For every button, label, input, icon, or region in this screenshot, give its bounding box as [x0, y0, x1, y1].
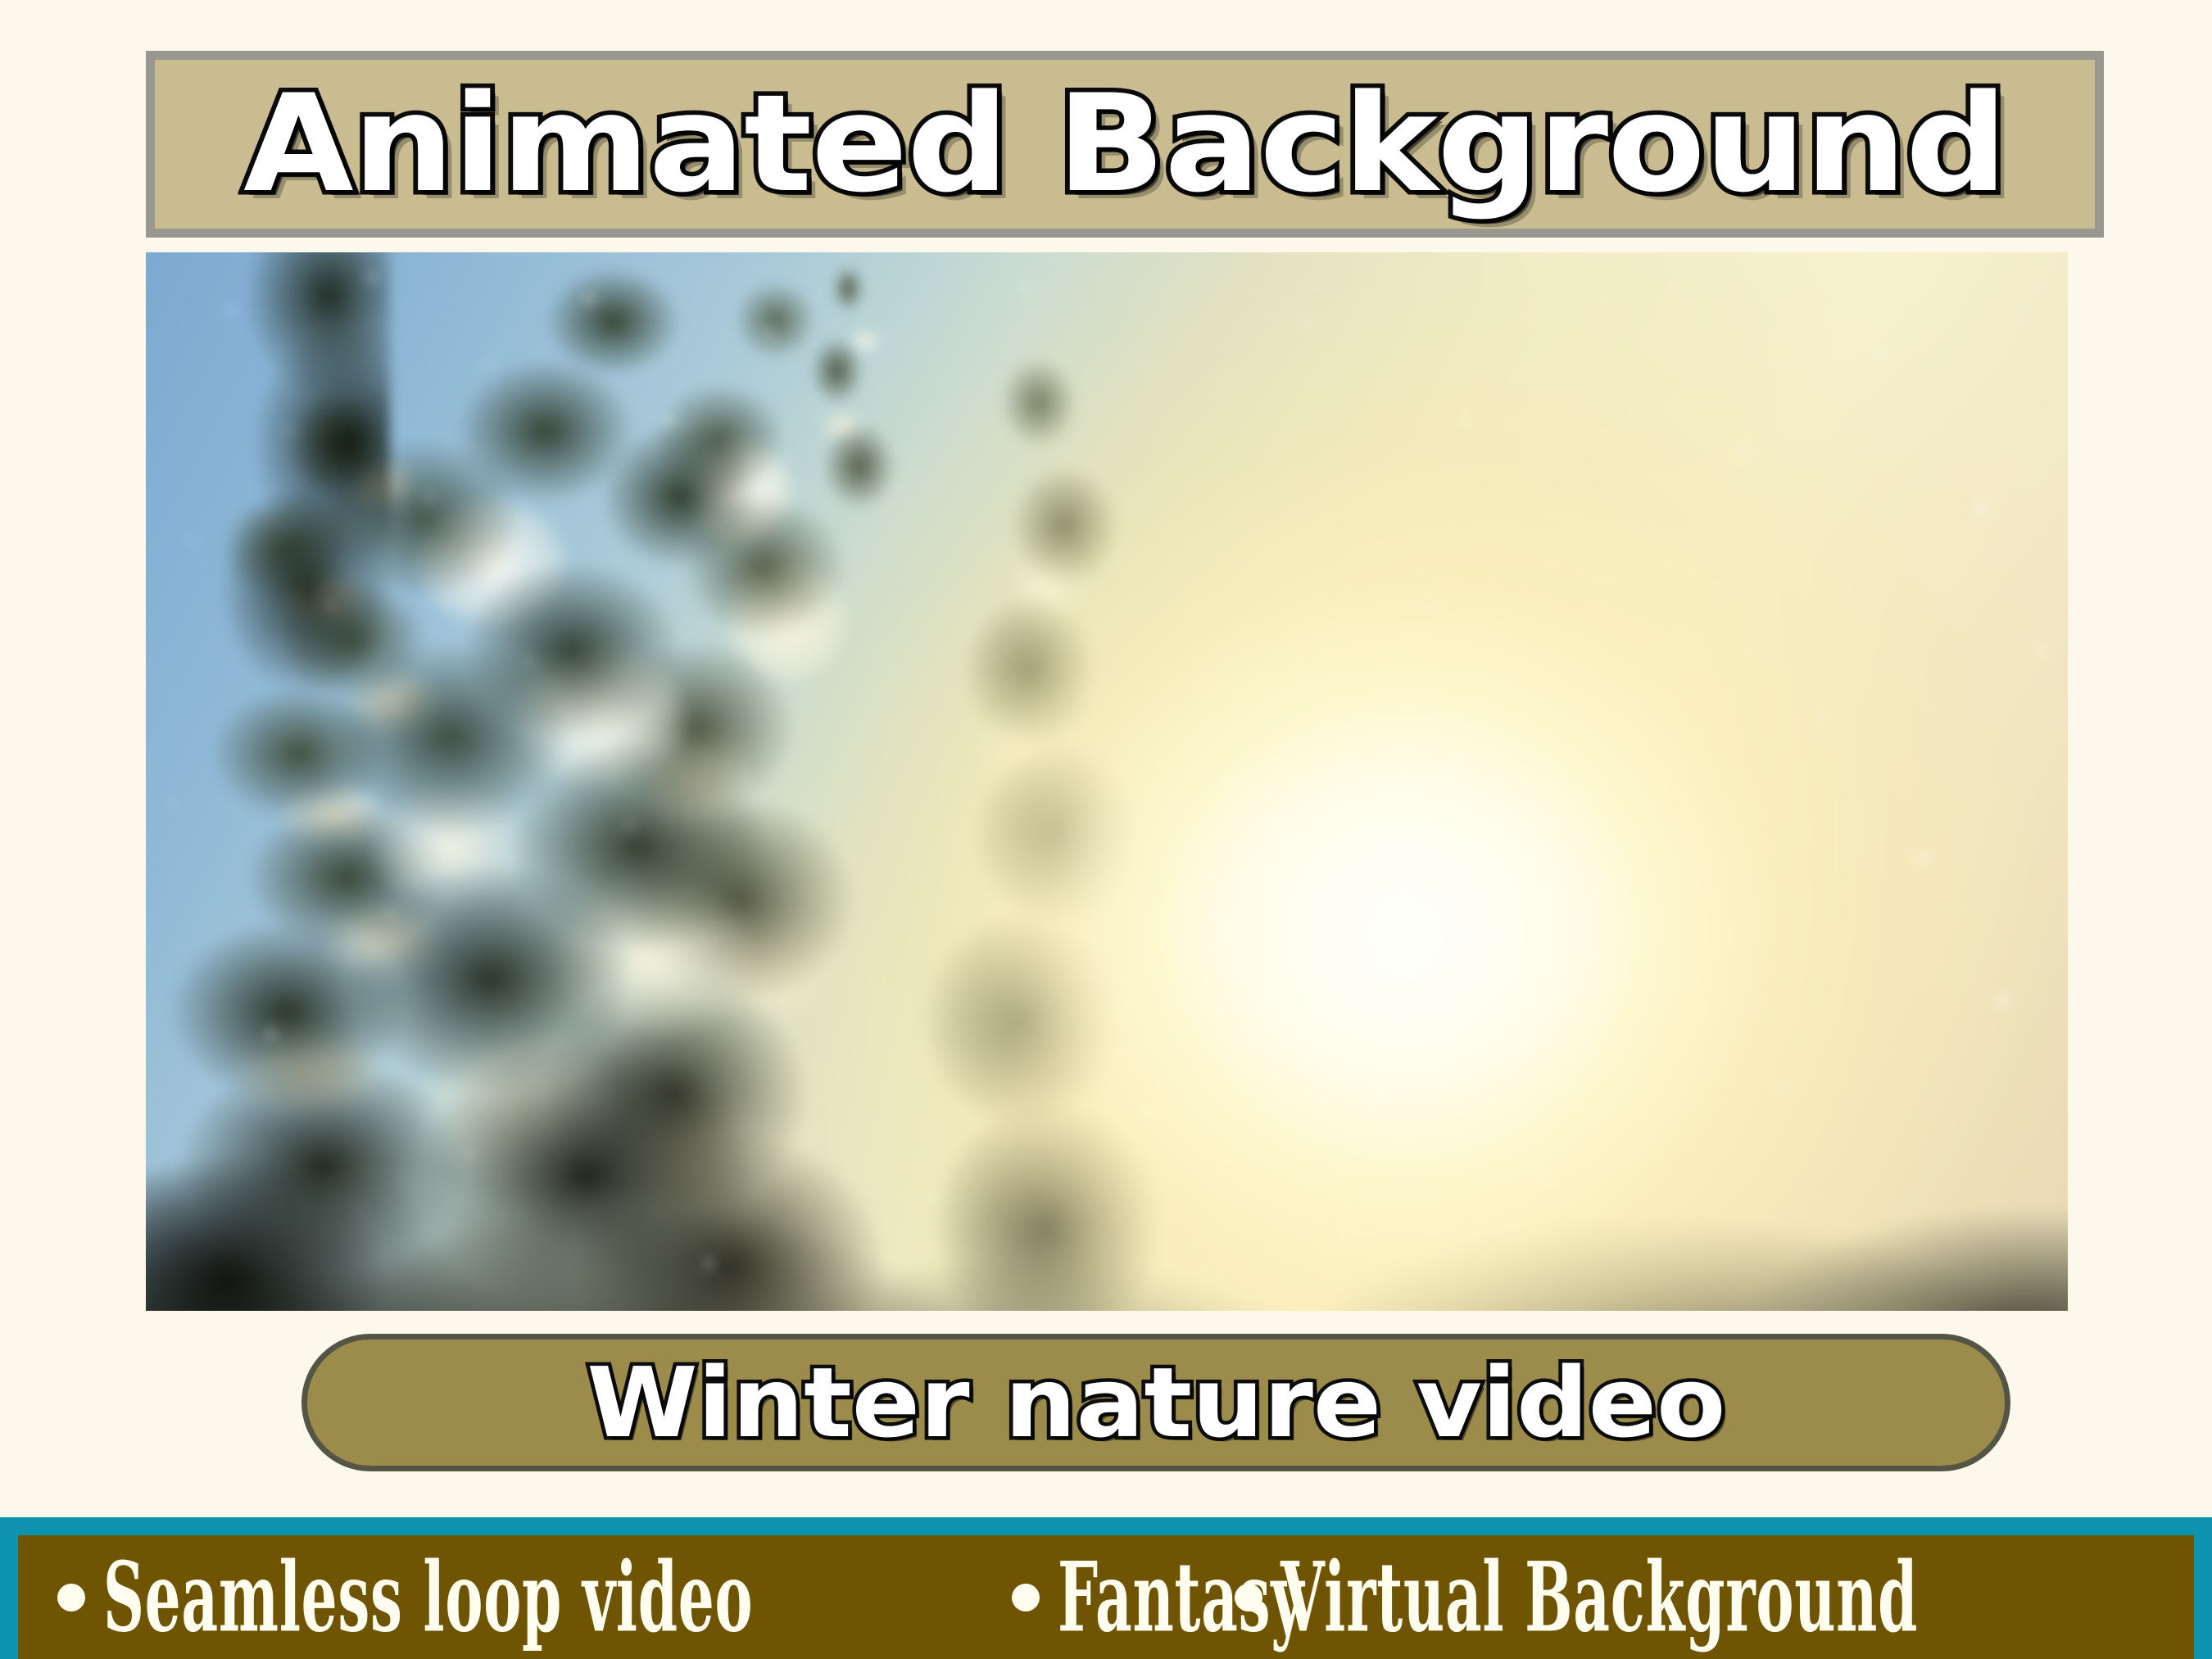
bullet-icon: [1012, 1584, 1040, 1611]
feature-item-virtual-background: Virtual Background: [1235, 1558, 2166, 1637]
feature-label-seamless-loop-video: Seamless loop video: [103, 1549, 753, 1645]
bullet-icon: [57, 1584, 85, 1611]
video-preview-image[interactable]: [146, 252, 2068, 1311]
title-banner: Animated Background: [146, 51, 2104, 238]
feature-item-seamless-loop-video: Seamless loop video: [57, 1558, 1006, 1637]
subtitle-pill[interactable]: Winter nature video: [301, 1334, 2010, 1471]
product-thumbnail-page: Animated Background Winter nature video …: [0, 0, 2212, 1659]
feature-banner: Seamless loop video Fantasy Virtual Back…: [0, 1517, 2212, 1659]
feature-label-virtual-background: Virtual Background: [1281, 1549, 1918, 1645]
subtitle-label: Winter nature video: [587, 1354, 1725, 1451]
feature-label-fantasy: Fantasy: [1058, 1549, 1304, 1645]
snowflakes-layer: [146, 252, 2068, 1311]
preview-blur-wrapper: [146, 252, 2068, 1311]
page-title: Animated Background: [243, 77, 2006, 211]
